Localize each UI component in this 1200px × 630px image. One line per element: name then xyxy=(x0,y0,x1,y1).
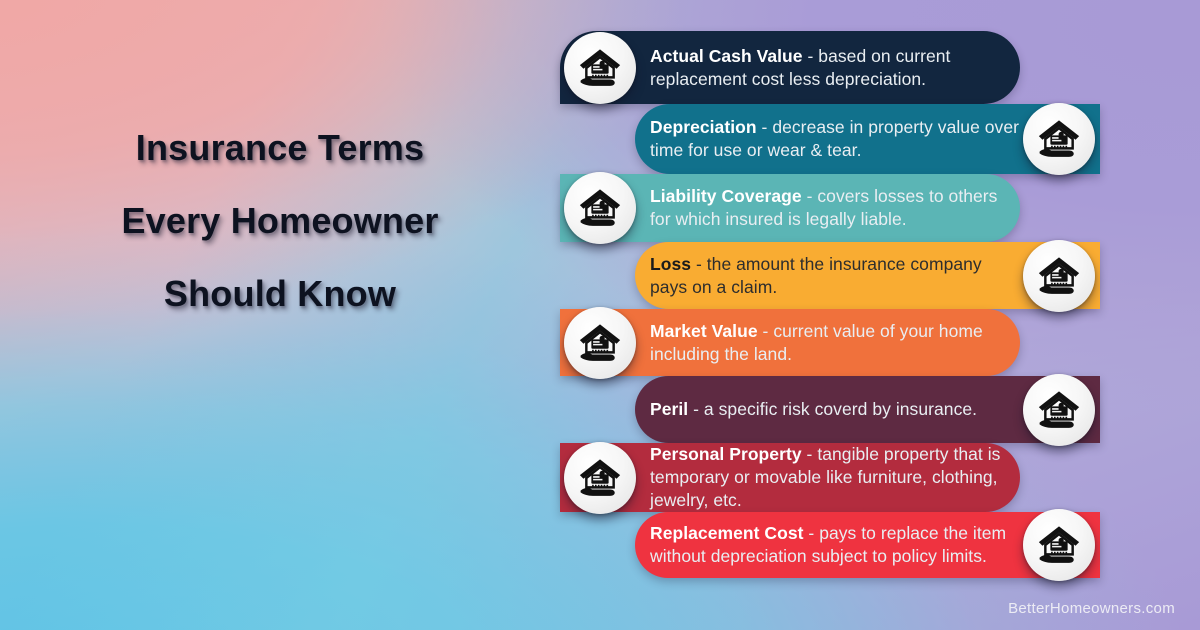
term-row[interactable]: Loss - the amount the insurance company … xyxy=(635,242,1100,309)
house-in-hand-icon xyxy=(1023,240,1095,312)
footer-attribution: BetterHomeowners.com xyxy=(1008,600,1175,617)
term-text: Personal Property - tangible property th… xyxy=(650,443,1020,511)
term-name: Liability Coverage xyxy=(650,186,802,206)
term-row[interactable]: Depreciation - decrease in property valu… xyxy=(635,104,1100,174)
term-text: Depreciation - decrease in property valu… xyxy=(650,116,1022,162)
term-row[interactable]: Personal Property - tangible property th… xyxy=(560,443,1020,512)
term-row[interactable]: Market Value - current value of your hom… xyxy=(560,309,1020,376)
term-text: Replacement Cost - pays to replace the i… xyxy=(650,522,1022,568)
house-in-hand-icon xyxy=(564,172,636,244)
term-name: Loss xyxy=(650,254,691,274)
infographic-canvas: Insurance Terms Every Homeowner Should K… xyxy=(0,0,1200,630)
term-name: Market Value xyxy=(650,321,758,341)
term-text: Actual Cash Value - based on current rep… xyxy=(650,45,1020,91)
term-name: Replacement Cost xyxy=(650,523,803,543)
house-in-hand-icon xyxy=(1023,374,1095,446)
term-row[interactable]: Peril - a specific risk coverd by insura… xyxy=(635,376,1100,443)
term-text: Peril - a specific risk coverd by insura… xyxy=(650,398,1022,421)
term-name: Peril xyxy=(650,399,688,419)
house-in-hand-icon xyxy=(1023,509,1095,581)
term-name: Personal Property xyxy=(650,444,802,464)
house-in-hand-icon xyxy=(564,307,636,379)
term-row[interactable]: Liability Coverage - covers losses to ot… xyxy=(560,174,1020,242)
term-text: Loss - the amount the insurance company … xyxy=(650,253,1022,299)
term-text: Liability Coverage - covers losses to ot… xyxy=(650,185,1020,231)
term-name: Actual Cash Value xyxy=(650,46,803,66)
term-name: Depreciation xyxy=(650,117,757,137)
house-in-hand-icon xyxy=(564,32,636,104)
house-in-hand-icon xyxy=(564,442,636,514)
term-row[interactable]: Replacement Cost - pays to replace the i… xyxy=(635,512,1100,578)
term-text: Market Value - current value of your hom… xyxy=(650,320,1020,366)
term-list: Actual Cash Value - based on current rep… xyxy=(0,0,1200,630)
term-definition: - the amount the insurance company pays … xyxy=(650,254,982,297)
term-row[interactable]: Actual Cash Value - based on current rep… xyxy=(560,31,1020,104)
term-definition: - a specific risk coverd by insurance. xyxy=(693,399,977,419)
house-in-hand-icon xyxy=(1023,103,1095,175)
